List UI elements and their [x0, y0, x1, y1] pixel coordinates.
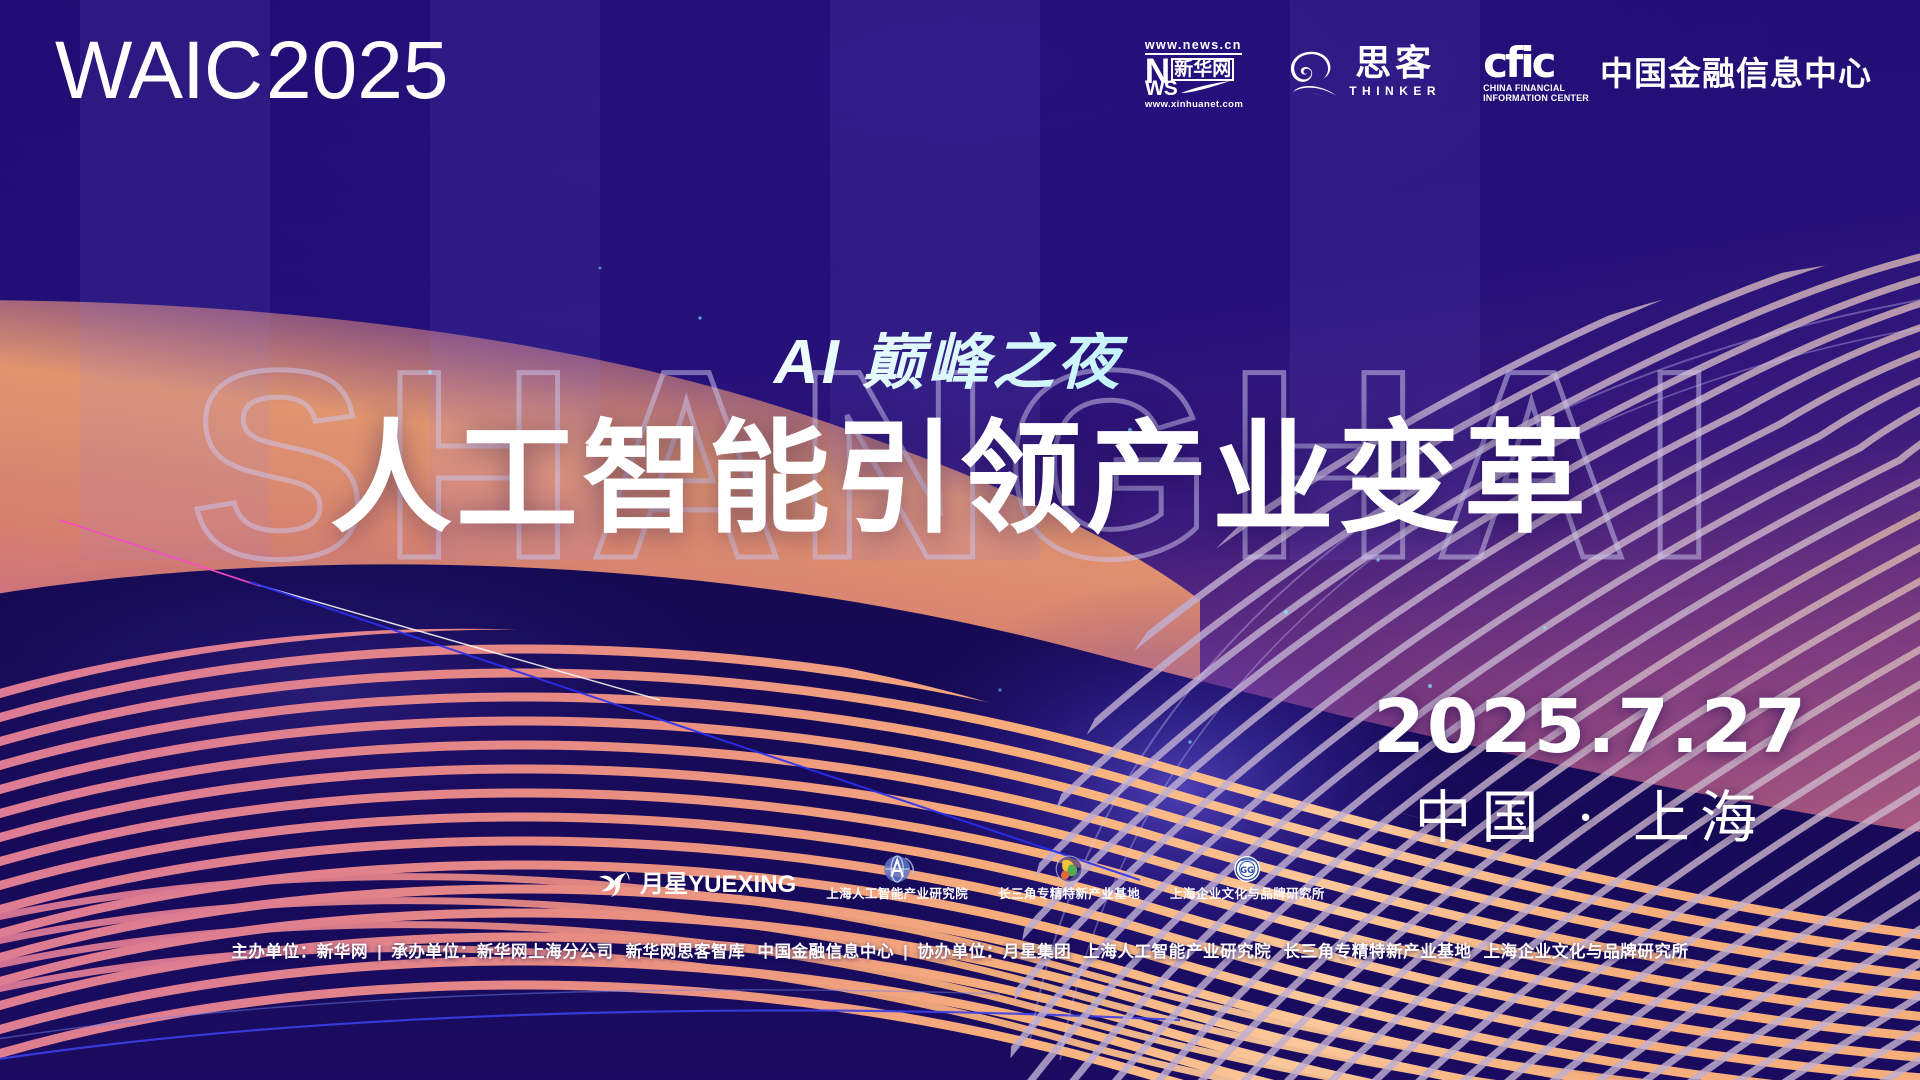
- partner-yangtze-delta-base-label: 长三角专精特新产业基地: [998, 888, 1140, 902]
- credits-line: 主办单位：新华网|承办单位：新华网上海分公司新华网思客智库中国金融信息中心|协办…: [0, 938, 1920, 962]
- partner-shanghai-ai-institute-label: 上海人工智能产业研究院: [826, 888, 968, 902]
- event-headline: 人工智能引领产业变革: [0, 418, 1920, 540]
- credits-organizer-value: 新华网: [317, 943, 368, 961]
- credits-separator-1: |: [368, 943, 391, 961]
- partner-logo-row: 月星YUEXING 上海人工智能产业研究院 长三角专精特新产业基地: [595, 853, 1325, 902]
- cfic-mark: cfic: [1483, 45, 1589, 82]
- credits-organizer-label: 主办单位：: [231, 943, 317, 961]
- globe-a-icon: [878, 853, 916, 887]
- xinhuanet-logo: www.news.cn N 新华网 WS www.xinhuanet.com: [1145, 39, 1243, 110]
- credits-host-value-2: 中国金融信息中心: [757, 943, 894, 961]
- credits-host-value-1: 新华网思客智库: [626, 943, 746, 961]
- waic-logo-word: WAIC: [55, 25, 262, 116]
- poster-header: WAIC2025 www.news.cn N 新华网 WS www.xinhua…: [0, 0, 1920, 150]
- waic-logo-year: 2025: [266, 25, 448, 116]
- xinhuanet-url-bottom: www.xinhuanet.com: [1145, 100, 1243, 110]
- partner-yuexing: 月星YUEXING: [595, 868, 796, 902]
- credits-coorganizer-value-1: 上海人工智能产业研究院: [1083, 943, 1271, 961]
- circle-seal-icon: GG: [1228, 853, 1266, 887]
- credits-host-label: 承办单位：: [391, 943, 477, 961]
- event-poster: SHANGHAI WAIC2025 www.news.cn N 新华网 WS: [0, 0, 1920, 1080]
- thinker-brush-swirl-icon: [1285, 48, 1341, 100]
- event-location: 中国 · 上海: [1373, 790, 1808, 847]
- svg-text:GG: GG: [1240, 866, 1254, 876]
- header-sponsor-logos: www.news.cn N 新华网 WS www.xinhuanet.com: [1145, 38, 1872, 110]
- event-date: 2025.7.27: [1373, 690, 1808, 764]
- cfic-english-line2: INFORMATION CENTER: [1483, 93, 1589, 103]
- colorful-map-icon: [1050, 853, 1088, 887]
- credits-coorganizer-value-2: 长三角专精特新产业基地: [1283, 943, 1471, 961]
- partner-yangtze-delta-base: 长三角专精特新产业基地: [998, 853, 1140, 902]
- thinker-english: THINKER: [1349, 82, 1441, 101]
- thinker-chinese: 思客: [1355, 46, 1435, 82]
- xinhuanet-ws-mark: WS: [1145, 78, 1177, 99]
- date-location-block: 2025.7.27 中国 · 上海: [1373, 690, 1808, 847]
- waic-logo: WAIC2025: [55, 30, 448, 112]
- partner-shanghai-brand-institute-label: 上海企业文化与品牌研究所: [1170, 888, 1325, 902]
- cfic-chinese: 中国金融信息中心: [1600, 57, 1872, 90]
- xinhuanet-swoosh-icon: [1180, 80, 1232, 94]
- cfic-english-line1: CHINA FINANCIAL: [1483, 83, 1589, 93]
- partner-yuexing-label: 月星YUEXING: [640, 873, 796, 897]
- credits-host-value-0: 新华网上海分公司: [477, 943, 614, 961]
- partner-shanghai-ai-institute: 上海人工智能产业研究院: [826, 853, 968, 902]
- cfic-logo: cfic CHINA FINANCIAL INFORMATION CENTER …: [1483, 45, 1872, 103]
- event-subtitle: AI 巅峰之夜: [0, 332, 1920, 394]
- credits-coorganizer-label: 协办单位：: [917, 943, 1003, 961]
- credits-coorganizer-value-3: 上海企业文化与品牌研究所: [1484, 943, 1689, 961]
- credits-separator-2: |: [894, 943, 917, 961]
- thinker-logo: 思客 THINKER: [1285, 46, 1441, 101]
- yuexing-bird-icon: [595, 868, 633, 902]
- partner-shanghai-brand-institute: GG 上海企业文化与品牌研究所: [1170, 853, 1325, 902]
- credits-coorganizer-value-0: 月星集团: [1003, 943, 1071, 961]
